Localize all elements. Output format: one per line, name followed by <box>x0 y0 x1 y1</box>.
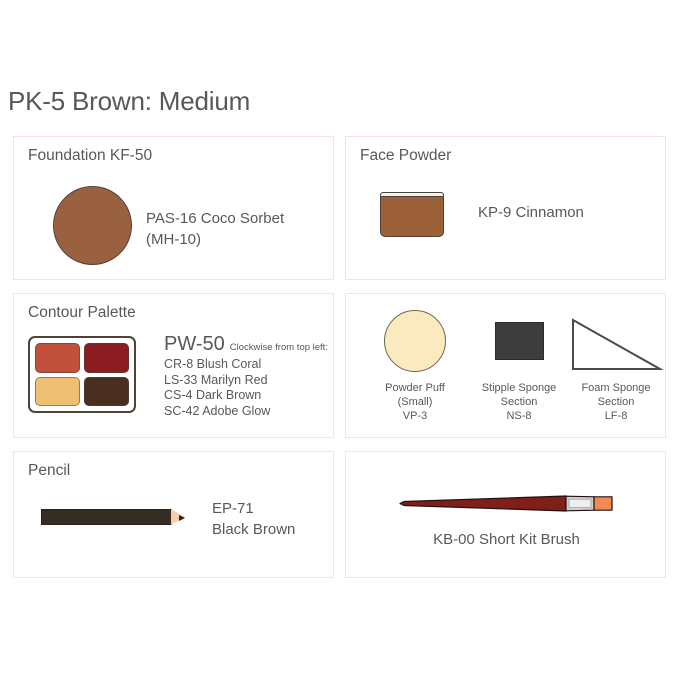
panel-face-powder: Face Powder KP-9 Cinnamon <box>345 136 666 280</box>
foundation-swatch-circle <box>53 186 132 265</box>
panel-title-face-powder: Face Powder <box>360 147 451 165</box>
stipple-sponge-shape <box>495 322 544 360</box>
contour-note: Clockwise from top left: <box>230 342 328 353</box>
tool-caption-line2: Section <box>464 395 574 409</box>
compact-body-swatch <box>380 196 444 237</box>
list-item: SC-42 Adobe Glow <box>164 404 339 420</box>
tool-powder-puff: Powder Puff (Small) VP-3 <box>360 310 470 423</box>
tool-code: NS-8 <box>464 409 574 423</box>
swatch-bottom-right <box>84 377 129 407</box>
swatch-bottom-left <box>35 377 80 407</box>
foundation-item-name: PAS-16 Coco Sorbet <box>146 208 284 229</box>
face-powder-item-name: KP-9 Cinnamon <box>478 204 584 221</box>
panel-foundation: Foundation KF-50 PAS-16 Coco Sorbet (MH-… <box>13 136 334 280</box>
panel-title-pencil: Pencil <box>28 462 70 480</box>
swatch-top-right <box>84 343 129 373</box>
panel-title-contour: Contour Palette <box>28 304 136 322</box>
list-item: LS-33 Marilyn Red <box>164 373 339 389</box>
panel-pencil: Pencil EP-71 Black Brown <box>13 451 334 578</box>
contour-text-block: PW-50Clockwise from top left: CR-8 Blush… <box>164 333 339 419</box>
page-title: PK-5 Brown: Medium <box>8 86 250 117</box>
pencil-item-name: Black Brown <box>212 519 295 540</box>
tool-code: VP-3 <box>360 409 470 423</box>
powder-puff-shape <box>384 310 446 372</box>
pencil-body <box>41 509 172 525</box>
tool-caption-line2: Section <box>561 395 671 409</box>
face-powder-compact <box>380 192 444 237</box>
brush-item-name: KB-00 Short Kit Brush <box>346 531 667 548</box>
contour-code: PW-50 <box>164 333 225 356</box>
brush-shape <box>398 492 618 514</box>
tool-caption-line1: Powder Puff <box>360 381 470 395</box>
tool-foam-sponge: Foam Sponge Section LF-8 <box>561 310 671 423</box>
foundation-item-code: (MH-10) <box>146 229 284 250</box>
tool-code: LF-8 <box>561 409 671 423</box>
contour-palette-swatches <box>28 336 136 413</box>
tool-caption-line2: (Small) <box>360 395 470 409</box>
list-item: CS-4 Dark Brown <box>164 388 339 404</box>
pencil-lead <box>179 515 185 521</box>
pencil-shape <box>41 509 186 525</box>
foundation-item-label: PAS-16 Coco Sorbet (MH-10) <box>146 208 284 250</box>
list-item: CR-8 Blush Coral <box>164 357 339 373</box>
panel-contour-palette: Contour Palette PW-50Clockwise from top … <box>13 293 334 438</box>
tool-caption-line1: Foam Sponge <box>561 381 671 395</box>
panel-brush: KB-00 Short Kit Brush <box>345 451 666 578</box>
tool-caption-line1: Stipple Sponge <box>464 381 574 395</box>
pencil-item-label: EP-71 Black Brown <box>212 498 295 540</box>
contour-shade-list: CR-8 Blush Coral LS-33 Marilyn Red CS-4 … <box>164 357 339 419</box>
foam-sponge-shape <box>569 316 664 373</box>
tool-stipple-sponge: Stipple Sponge Section NS-8 <box>464 310 574 423</box>
panel-tools: Powder Puff (Small) VP-3 Stipple Sponge … <box>345 293 666 438</box>
panel-title-foundation: Foundation KF-50 <box>28 147 152 165</box>
product-kit-sheet: PK-5 Brown: Medium Foundation KF-50 PAS-… <box>0 0 679 679</box>
pencil-item-code: EP-71 <box>212 498 295 519</box>
swatch-top-left <box>35 343 80 373</box>
